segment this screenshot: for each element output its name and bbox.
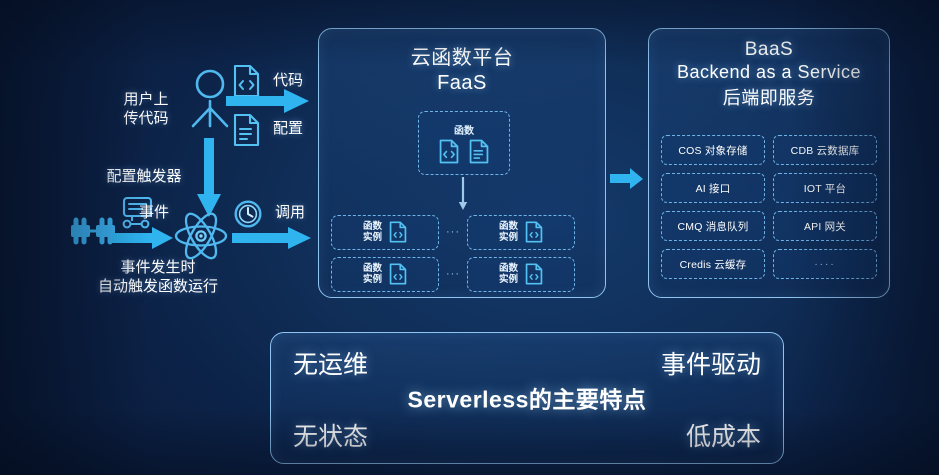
invoke-label: 调用: [264, 203, 316, 222]
upload-code-label: 用户上 传代码: [104, 90, 188, 128]
config-label: 配置: [262, 119, 314, 138]
config-file-icon: [233, 113, 260, 147]
faas-title-cn: 云函数平台: [319, 41, 605, 70]
baas-service-cdb[interactable]: CDB 云数据库: [773, 135, 877, 165]
trigger-down-arrow: [196, 138, 222, 218]
feature-stateless: 无状态: [293, 417, 368, 453]
faas-title-en: FaaS: [319, 72, 605, 95]
clock-icon: [234, 200, 262, 228]
event-label: 事件: [128, 203, 180, 222]
feature-low-cost: 低成本: [686, 417, 761, 453]
baas-service-grid: COS 对象存储 CDB 云数据库 AI 接口 IOT 平台 CMQ 消息队列 …: [661, 135, 877, 279]
function-instance: 函数 实例: [331, 257, 439, 292]
function-instance: 函数 实例: [467, 215, 575, 250]
upload-flow-arrow: [226, 88, 310, 114]
function-instance-label: 函数 实例: [363, 263, 382, 285]
function-box-label: 函数: [454, 122, 474, 137]
atom-icon: [174, 209, 228, 263]
function-instance-label: 函数 实例: [499, 263, 518, 285]
baas-title-full: Backend as a Service: [649, 62, 889, 83]
baas-service-more[interactable]: ····: [773, 249, 877, 279]
baas-service-cmq[interactable]: CMQ 消息队列: [661, 211, 765, 241]
features-title: Serverless的主要特点: [271, 380, 783, 414]
function-box: 函数: [418, 111, 510, 175]
code-file-icon: [525, 221, 543, 243]
code-file-icon: [439, 139, 459, 164]
baas-service-ai[interactable]: AI 接口: [661, 173, 765, 203]
auto-trigger-label: 事件发生时 自动触发函数运行: [60, 258, 256, 296]
instance-separator: ···: [446, 226, 460, 238]
serverless-architecture-diagram: 用户上 传代码 代码 配置 配置触发器 事件: [0, 0, 939, 475]
code-file-icon: [389, 263, 407, 285]
function-instance: 函数 实例: [467, 257, 575, 292]
faas-to-baas-arrow: [610, 168, 644, 190]
faas-panel: 云函数平台 FaaS 函数 函数: [318, 28, 606, 298]
baas-title-cn: 后端即服务: [649, 84, 889, 110]
configure-trigger-label: 配置触发器: [84, 167, 204, 186]
baas-title-abbr: BaaS: [649, 39, 889, 61]
function-deploy-arrow: [458, 177, 468, 211]
invoke-flow-arrow: [232, 226, 312, 250]
feature-event-driven: 事件驱动: [661, 345, 761, 381]
baas-service-cos[interactable]: COS 对象存储: [661, 135, 765, 165]
function-instance-grid: 函数 实例 ··· 函数 实例 函数 实例: [331, 215, 593, 291]
feature-no-ops: 无运维: [293, 345, 368, 381]
plug-icon: [70, 208, 116, 254]
function-instance: 函数 实例: [331, 215, 439, 250]
serverless-features-panel: 无运维 事件驱动 Serverless的主要特点 无状态 低成本: [270, 332, 784, 464]
config-file-icon: [469, 139, 489, 164]
baas-service-iot[interactable]: IOT 平台: [773, 173, 877, 203]
instance-separator: ···: [446, 268, 460, 280]
baas-service-credis[interactable]: Credis 云缓存: [661, 249, 765, 279]
function-instance-label: 函数 实例: [363, 221, 382, 243]
event-flow-arrow: [112, 226, 174, 250]
code-file-icon: [389, 221, 407, 243]
function-instance-label: 函数 实例: [499, 221, 518, 243]
baas-service-api-gateway[interactable]: API 网关: [773, 211, 877, 241]
baas-panel: BaaS Backend as a Service 后端即服务 COS 对象存储…: [648, 28, 890, 298]
code-file-icon: [525, 263, 543, 285]
